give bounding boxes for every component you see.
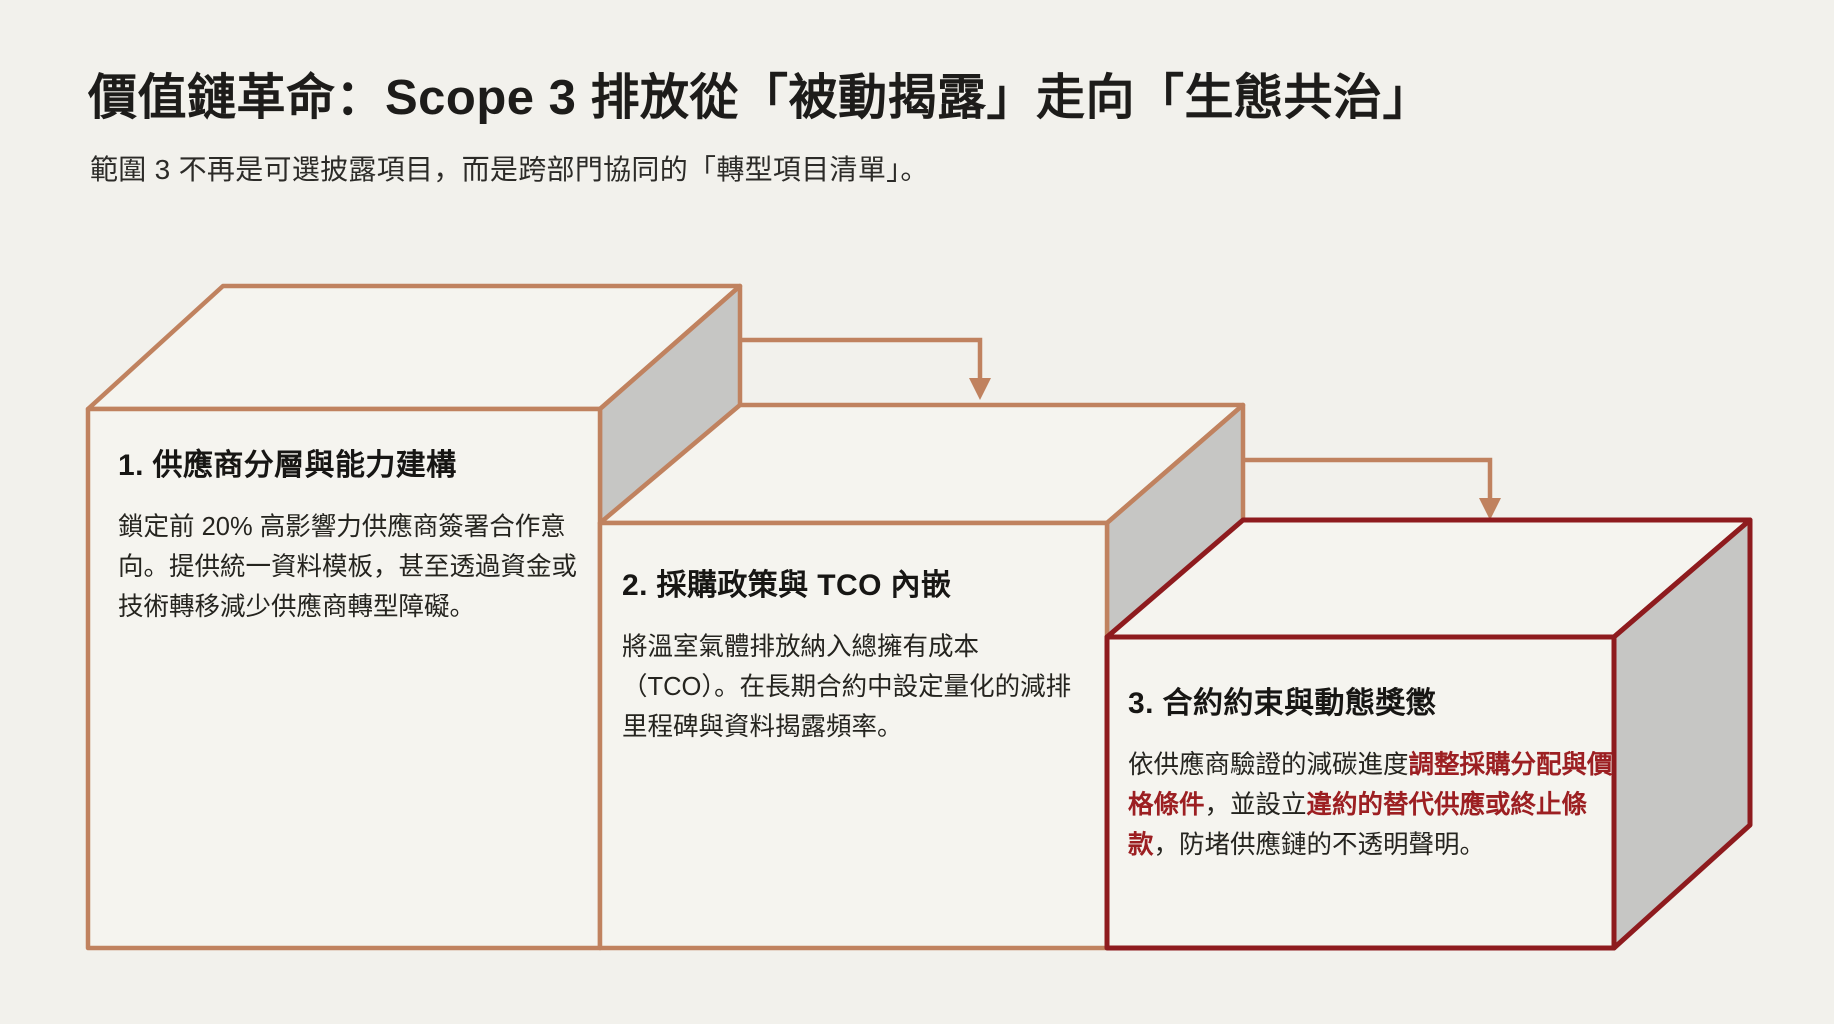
body-text: ，防堵供應鏈的不透明聲明。: [1154, 831, 1486, 859]
connector-2-to-3[interactable]: [1243, 460, 1501, 520]
card-step-3-body: 依供應商驗證的減碳進度調整採購分配與價格條件，並設立違約的替代供應或終止條款，防…: [1128, 746, 1618, 865]
card-step-1-body: 鎖定前 20% 高影響力供應商簽署合作意向。提供統一資料模板，甚至透過資金或技術…: [118, 508, 578, 627]
slide-canvas: 價值鏈革命：Scope 3 排放從「被動揭露」走向「生態共治」 範圍 3 不再是…: [0, 0, 1834, 1024]
connector-1-to-2[interactable]: [740, 340, 991, 400]
body-text: 將溫室氣體排放納入總擁有成本（TCO）。在長期合約中設定量化的減排里程碑與資料揭…: [622, 633, 1071, 741]
card-step-1[interactable]: 1. 供應商分層與能力建構 鎖定前 20% 高影響力供應商簽署合作意向。提供統一…: [118, 440, 578, 627]
card-step-2[interactable]: 2. 採購政策與 TCO 內嵌 將溫室氣體排放納入總擁有成本（TCO）。在長期合…: [622, 560, 1092, 747]
card-step-2-body: 將溫室氣體排放納入總擁有成本（TCO）。在長期合約中設定量化的減排里程碑與資料揭…: [622, 628, 1092, 747]
body-text: 依供應商驗證的減碳進度: [1128, 751, 1409, 779]
body-text: ，並設立: [1205, 791, 1307, 819]
card-step-1-title: 1. 供應商分層與能力建構: [118, 440, 578, 484]
card-step-3-title: 3. 合約約束與動態獎懲: [1128, 678, 1618, 722]
body-text: 鎖定前 20% 高影響力供應商簽署合作意向。提供統一資料模板，甚至透過資金或技術…: [118, 513, 577, 621]
card-step-3[interactable]: 3. 合約約束與動態獎懲 依供應商驗證的減碳進度調整採購分配與價格條件，並設立違…: [1128, 678, 1618, 865]
card-step-2-title: 2. 採購政策與 TCO 內嵌: [622, 560, 1092, 604]
